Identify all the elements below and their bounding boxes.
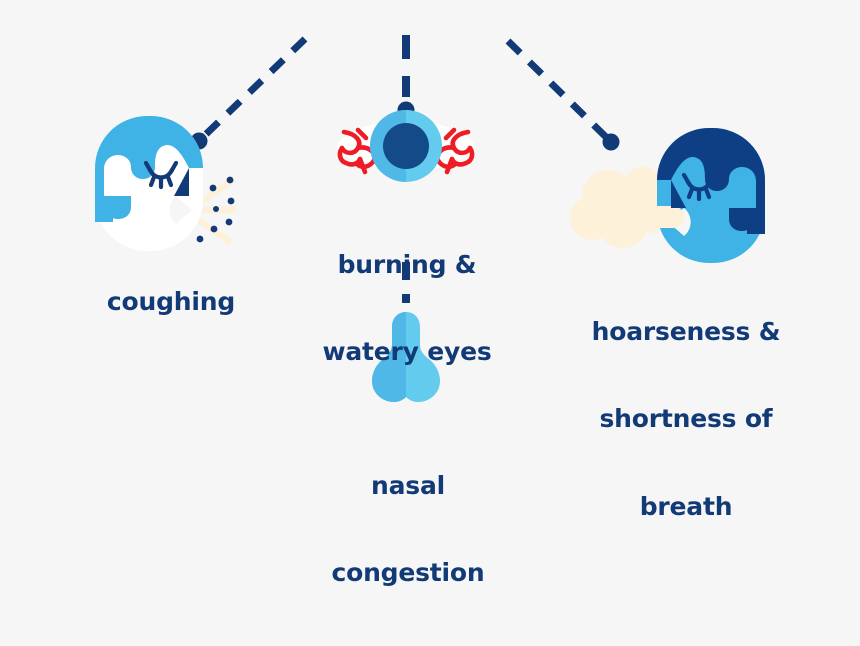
label-hoarseness-line1: hoarseness & — [572, 317, 800, 346]
connector-right-dashes — [508, 41, 607, 138]
breath-stream — [648, 206, 684, 228]
label-hoarseness-line2: shortness of — [572, 404, 800, 433]
breathing-hair-lower — [747, 208, 765, 234]
label-nasal-line1: nasal — [310, 471, 506, 500]
connector-right — [508, 41, 620, 151]
coughing-face-icon — [95, 116, 236, 251]
label-hoarseness-shortness-of-breath: hoarseness & shortness of breath — [572, 258, 800, 580]
label-eyes-line1: burning & — [305, 250, 509, 279]
label-coughing-line1: coughing — [107, 287, 235, 316]
eyelash — [151, 177, 154, 185]
droplet — [226, 219, 233, 226]
coughing-hair-lower — [95, 196, 113, 222]
connector-center — [398, 35, 415, 119]
connector-left — [191, 39, 306, 150]
infographic-canvas: coughing burning & watery eyes hoarsenes… — [0, 0, 860, 514]
label-burning-watery-eyes: burning & watery eyes — [305, 191, 509, 425]
droplet — [213, 206, 219, 212]
connector-right-endpoint-dot — [603, 134, 620, 151]
droplet — [227, 177, 234, 184]
droplet — [228, 198, 235, 205]
eyelash — [689, 189, 692, 197]
label-nasal-line2: congestion — [310, 558, 506, 587]
eye-pupil — [383, 123, 429, 169]
eyelash — [168, 177, 171, 185]
label-hoarseness-line3: breath — [572, 492, 800, 521]
label-coughing: coughing — [42, 258, 266, 346]
eyelash — [706, 189, 709, 197]
droplet — [210, 185, 217, 192]
label-eyes-line2: watery eyes — [305, 337, 509, 366]
droplet — [211, 226, 218, 233]
droplet — [197, 236, 204, 243]
label-nasal-congestion: nasal congestion — [310, 412, 506, 646]
breathing-face-icon — [570, 128, 765, 263]
bloodshot-eye-icon — [336, 110, 476, 182]
connector-left-dashes — [203, 39, 305, 137]
